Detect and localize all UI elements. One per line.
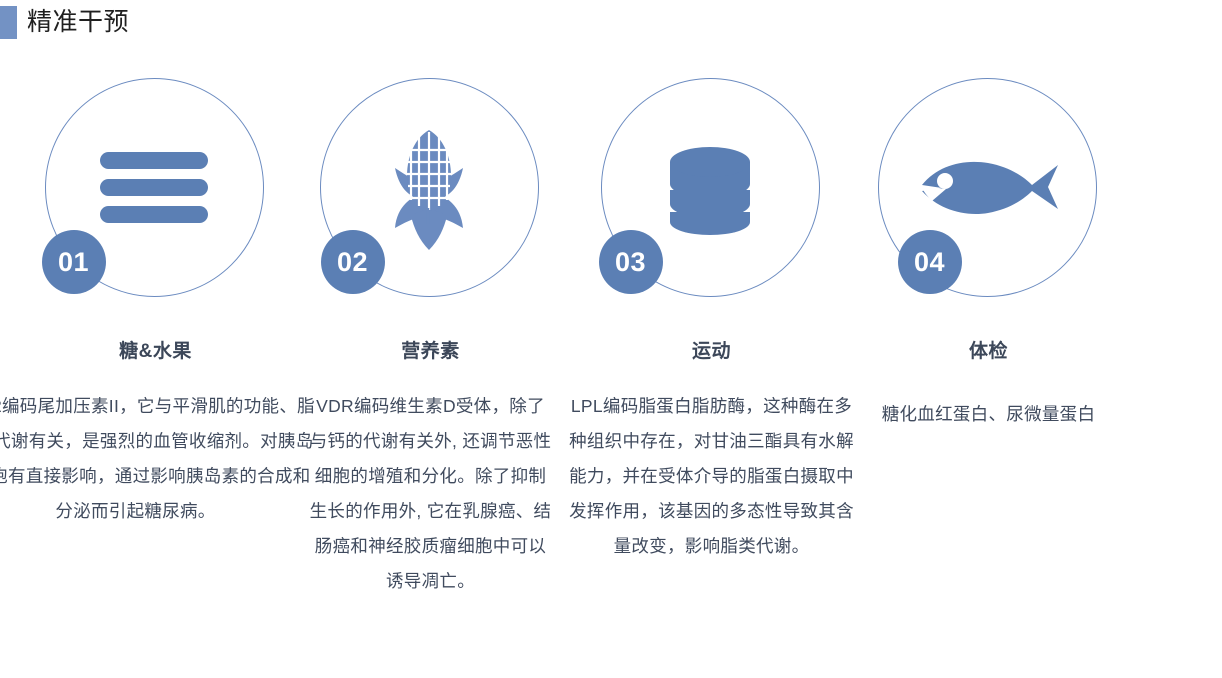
feature-column-1: 01 糖&水果 UTS2编码尾加压素II，它与平滑肌的功能、脂和糖代谢有关，是强… [18, 78, 293, 599]
feature-circle-4[interactable]: 04 [878, 78, 1100, 300]
step-badge-4: 04 [898, 230, 962, 294]
page-title-text: 精准干预 [27, 6, 129, 39]
feature-heading-2: 营养素 [401, 336, 460, 363]
feature-circle-1[interactable]: 01 [45, 78, 267, 300]
feature-column-2: 02 营养素 VDR编码维生素D受体，除了与钙的代谢有关外, 还调节恶性细胞的增… [293, 78, 568, 599]
page-title: 精准干预 [0, 4, 129, 40]
feature-body-3: LPL编码脂蛋白脂肪酶，这种酶在多种组织中存在，对甘油三酯具有水解能力，并在受体… [567, 389, 857, 564]
step-badge-1: 01 [42, 230, 106, 294]
feature-body-4: 糖化血红蛋白、尿微量蛋白 [879, 397, 1099, 432]
feature-columns: 01 糖&水果 UTS2编码尾加压素II，它与平滑肌的功能、脂和糖代谢有关，是强… [0, 78, 1222, 599]
feature-body-1: UTS2编码尾加压素II，它与平滑肌的功能、脂和糖代谢有关，是强烈的血管收缩剂。… [0, 389, 318, 529]
feature-circle-3[interactable]: 03 [601, 78, 823, 300]
feature-heading-3: 运动 [692, 336, 731, 363]
feature-heading-1: 糖&水果 [119, 336, 192, 363]
step-badge-2: 02 [321, 230, 385, 294]
feature-column-4: 04 体检 糖化血红蛋白、尿微量蛋白 [851, 78, 1126, 599]
step-badge-3: 03 [599, 230, 663, 294]
feature-heading-4: 体检 [969, 336, 1008, 363]
feature-body-2: VDR编码维生素D受体，除了与钙的代谢有关外, 还调节恶性细胞的增殖和分化。除了… [308, 389, 553, 599]
feature-circle-2[interactable]: 02 [320, 78, 542, 300]
feature-column-3: 03 运动 LPL编码脂蛋白脂肪酶，这种酶在多种组织中存在，对甘油三酯具有水解能… [574, 78, 849, 599]
title-accent-bar [0, 6, 17, 39]
